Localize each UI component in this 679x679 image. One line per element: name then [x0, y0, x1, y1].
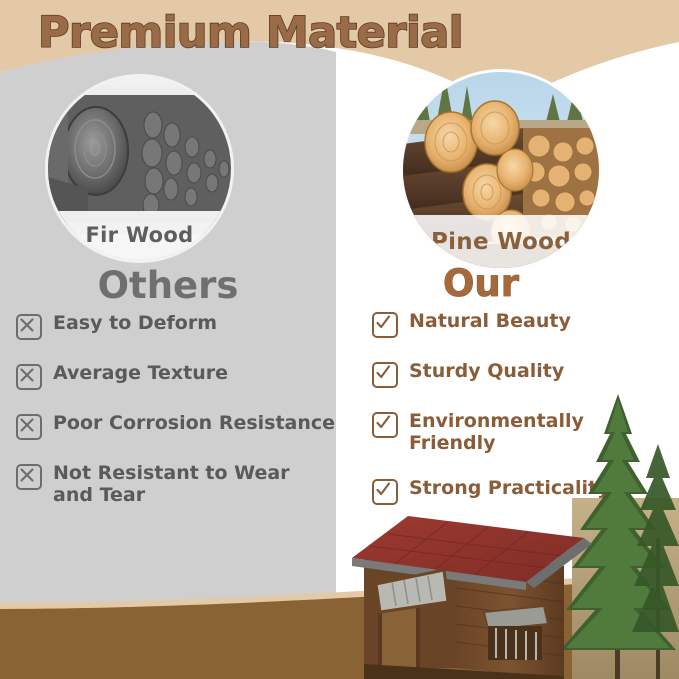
check-box-icon	[372, 312, 398, 338]
list-item: Natural Beauty	[372, 310, 672, 338]
others-list: Easy to Deform Average Texture Poor Corr…	[16, 312, 336, 507]
page-title: Premium Material	[38, 8, 463, 58]
our-heading: Our	[336, 262, 626, 305]
check-box-icon	[372, 362, 398, 388]
fir-wood-label-band: Fir Wood	[48, 211, 231, 260]
check-box-icon	[372, 479, 398, 505]
pine-wood-label-band: Pine Wood	[403, 215, 599, 268]
list-item-label: Average Texture	[53, 362, 228, 384]
wooden-dog-house-photo	[348, 508, 596, 679]
list-item: Average Texture	[16, 362, 336, 390]
fir-wood-circle: Fir Wood	[48, 77, 231, 260]
list-item-label: Sturdy Quality	[409, 360, 564, 382]
premium-material-infographic: Premium Material	[0, 0, 679, 679]
others-heading: Others	[0, 264, 336, 307]
list-item: Easy to Deform	[16, 312, 336, 340]
list-item: Sturdy Quality	[372, 360, 672, 388]
list-item-label: Easy to Deform	[53, 312, 217, 334]
list-item-label: Natural Beauty	[409, 310, 571, 332]
pine-wood-label: Pine Wood	[431, 229, 571, 255]
list-item-label: Poor Corrosion Resistance	[53, 412, 335, 434]
x-box-icon	[16, 464, 42, 490]
x-box-icon	[16, 314, 42, 340]
pine-wood-circle: Pine Wood	[403, 72, 599, 268]
x-box-icon	[16, 364, 42, 390]
fir-wood-label: Fir Wood	[86, 223, 194, 247]
list-item: Not Resistant to Wear and Tear	[16, 462, 336, 507]
x-box-icon	[16, 414, 42, 440]
list-item-label: Not Resistant to Wear and Tear	[53, 462, 311, 507]
check-box-icon	[372, 412, 398, 438]
list-item: Poor Corrosion Resistance	[16, 412, 336, 440]
